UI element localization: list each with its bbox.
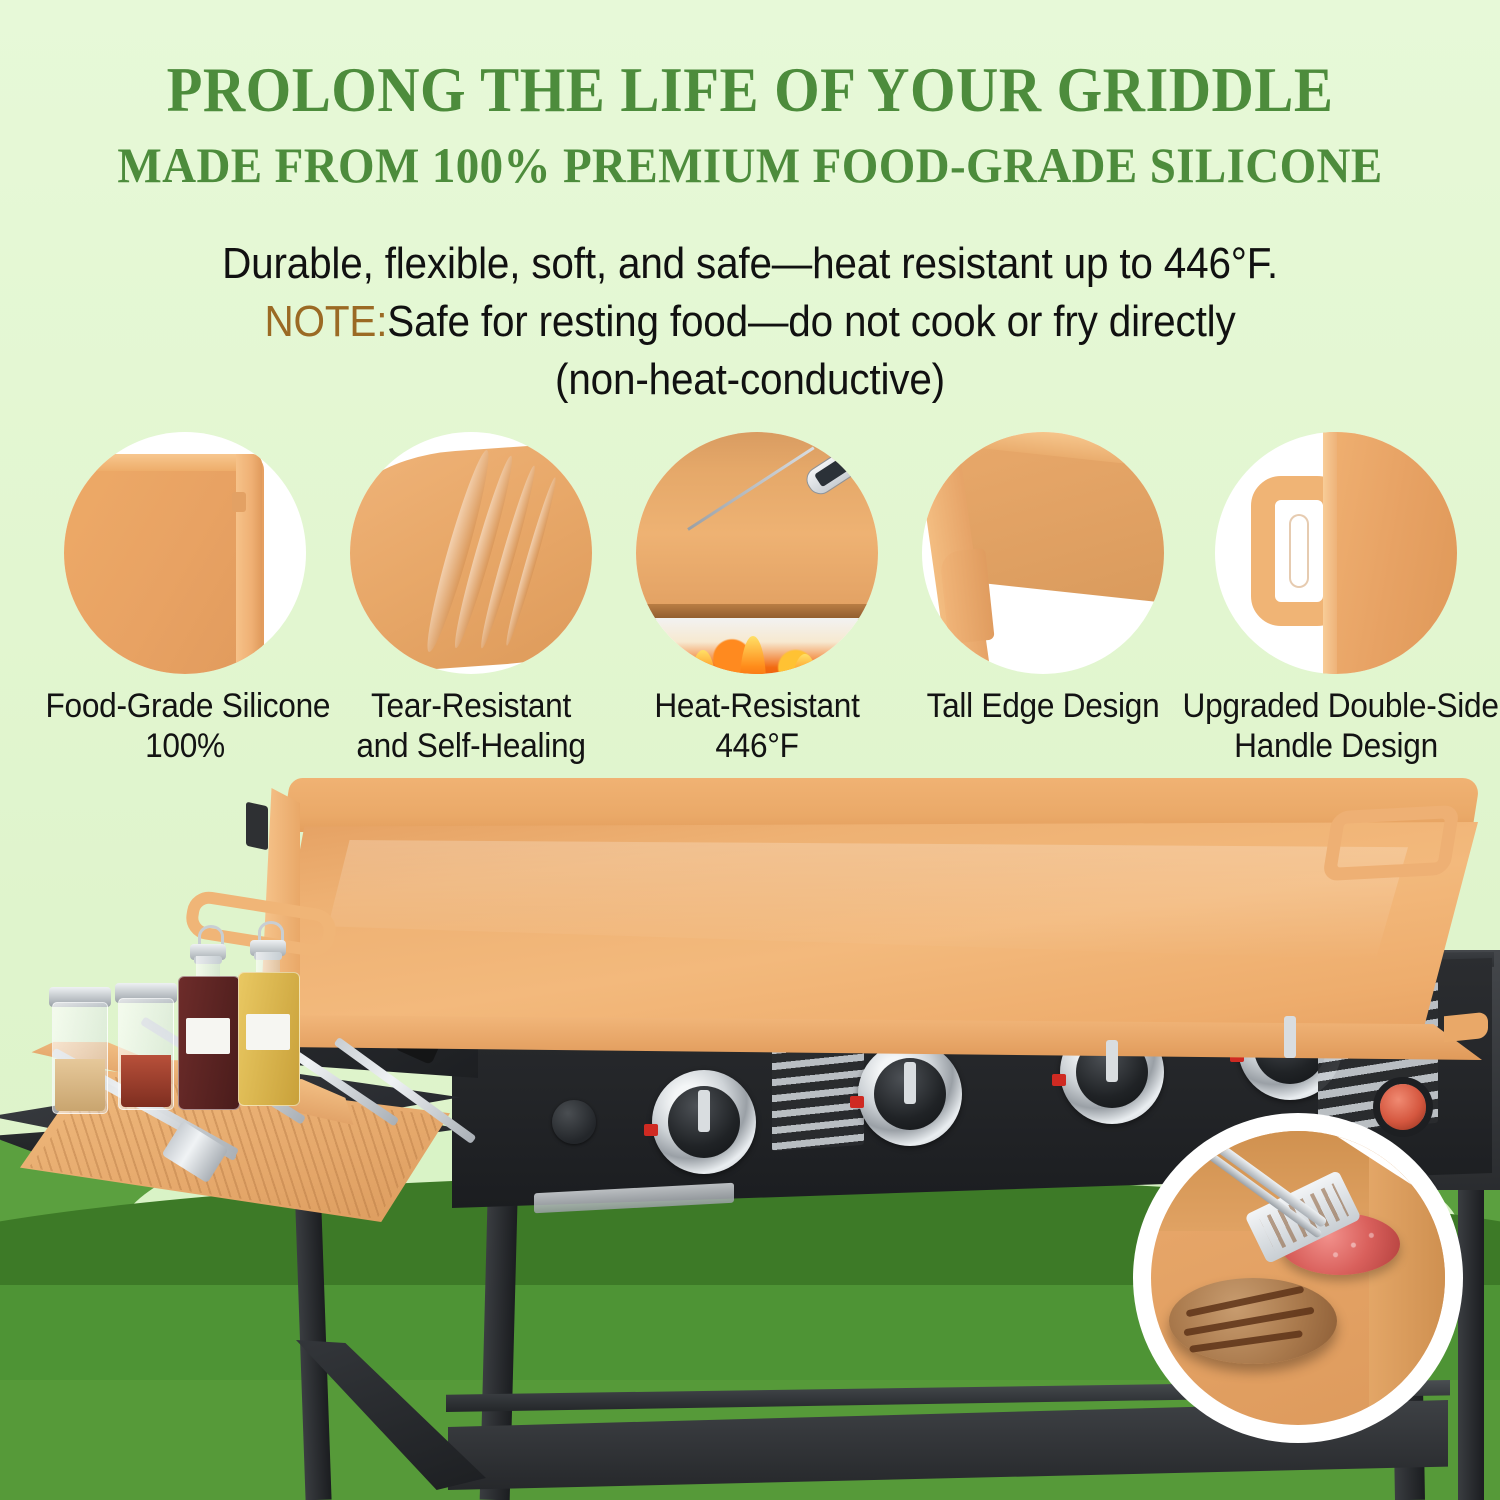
feature-caption-line1: Food-Grade Silicone xyxy=(46,686,325,726)
feature-caption-line2: 446°F xyxy=(618,726,897,766)
subheading-block: Durable, flexible, soft, and safe—heat r… xyxy=(60,235,1440,409)
note-label: NOTE: xyxy=(264,297,387,346)
feature-caption: Tear-Resistant and Self-Healing xyxy=(332,686,611,766)
feature-item-tear-resistant: Tear-Resistant and Self-Healing xyxy=(321,432,621,766)
headline-primary: PROLONG THE LIFE OF YOUR GRIDDLE xyxy=(53,58,1448,124)
feature-caption: Food-Grade Silicone 100% xyxy=(46,686,325,766)
oil-bottle-light xyxy=(238,928,298,1106)
igniter-button[interactable] xyxy=(1380,1084,1426,1130)
silicone-corner-icon xyxy=(64,432,306,674)
feature-caption-line2: and Self-Healing xyxy=(332,726,611,766)
subheading-line-3: (non-heat-conductive) xyxy=(60,351,1440,409)
feature-item-tall-edge: Tall Edge Design xyxy=(893,432,1193,726)
feature-item-heat-resistant: Heat-Resistant 446°F xyxy=(607,432,907,766)
feature-caption-line2: 100% xyxy=(46,726,325,766)
resting-food-callout xyxy=(1142,1122,1454,1434)
subheading-line-1: Durable, flexible, soft, and safe—heat r… xyxy=(60,235,1440,293)
feature-caption: Upgraded Double-Side Handle Design xyxy=(1183,686,1490,766)
draped-silicone-sheet-icon xyxy=(350,432,592,674)
headline-block: PROLONG THE LIFE OF YOUR GRIDDLE MADE FR… xyxy=(0,58,1500,193)
grill-leg-rear-right xyxy=(1458,1170,1484,1500)
poster-canvas: PROLONG THE LIFE OF YOUR GRIDDLE MADE FR… xyxy=(0,0,1500,1500)
feature-caption-line1: Upgraded Double-Side xyxy=(1183,686,1490,726)
oil-bottle-label xyxy=(246,1014,290,1050)
silicone-griddle-mat xyxy=(268,778,1484,1068)
feature-caption-line1: Tear-Resistant xyxy=(332,686,611,726)
product-photo xyxy=(0,740,1500,1500)
headline-secondary: MADE FROM 100% PREMIUM FOOD-GRADE SILICO… xyxy=(45,138,1455,193)
burner-knob-1[interactable] xyxy=(652,1070,756,1174)
grease-valve-knob[interactable] xyxy=(552,1100,596,1144)
oil-bottle-dark xyxy=(178,932,238,1110)
note-text: Safe for resting food—do not cook or fry… xyxy=(387,297,1235,346)
side-handle-icon xyxy=(1215,432,1457,674)
subheading-line-2: NOTE:Safe for resting food—do not cook o… xyxy=(60,293,1440,351)
feature-caption-line1: Tall Edge Design xyxy=(904,686,1183,726)
feature-caption-line1: Heat-Resistant xyxy=(618,686,897,726)
feature-caption-line2: Handle Design xyxy=(1183,726,1490,766)
tall-edge-icon xyxy=(922,432,1164,674)
feature-caption: Heat-Resistant 446°F xyxy=(618,686,897,766)
feature-caption: Tall Edge Design xyxy=(904,686,1183,726)
grill-leg-rear-left xyxy=(294,1180,331,1500)
thermometer-flame-icon xyxy=(636,432,878,674)
feature-item-food-grade: Food-Grade Silicone 100% xyxy=(35,432,335,766)
oil-bottle-label xyxy=(186,1018,230,1054)
spice-jar-1 xyxy=(52,1002,108,1114)
spice-jar-2 xyxy=(118,998,174,1110)
mat-handle-right xyxy=(1322,805,1460,881)
feature-row: Food-Grade Silicone 100% Tear-Resistant … xyxy=(0,432,1500,762)
feature-item-double-handle: Upgraded Double-Side Handle Design xyxy=(1171,432,1500,766)
cooked-burger-patty xyxy=(1169,1278,1337,1364)
